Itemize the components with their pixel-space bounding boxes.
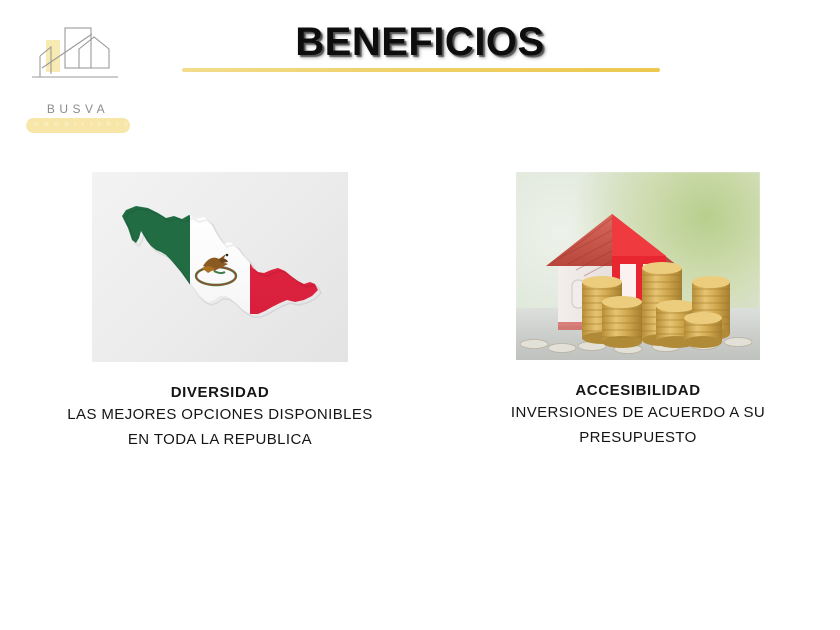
benefit-text-line1: INVERSIONES DE ACUERDO A SU bbox=[450, 402, 826, 424]
benefit-caption-diversidad: DIVERSIDAD LAS MEJORES OPCIONES DISPONIB… bbox=[14, 384, 426, 451]
title-underline-rule bbox=[182, 68, 660, 72]
logo-tagline: I N M O B I L I A R I A bbox=[26, 119, 130, 132]
benefit-caption-accesibilidad: ACCESIBILIDAD INVERSIONES DE ACUERDO A S… bbox=[450, 382, 826, 449]
benefit-column-accesibilidad: ACCESIBILIDAD INVERSIONES DE ACUERDO A S… bbox=[450, 172, 826, 449]
benefit-text-line2: PRESUPUESTO bbox=[450, 427, 826, 449]
coin-stack-2 bbox=[602, 296, 642, 348]
mexico-map-flag-photo bbox=[92, 172, 348, 362]
page-title: BENEFICIOS bbox=[0, 20, 840, 65]
mexico-map-illustration bbox=[92, 172, 348, 362]
benefit-heading: DIVERSIDAD bbox=[14, 384, 426, 401]
benefit-column-diversidad: DIVERSIDAD LAS MEJORES OPCIONES DISPONIB… bbox=[14, 172, 426, 451]
benefit-text-line2: EN TODA LA REPUBLICA bbox=[14, 429, 426, 451]
slide-beneficios: BUSVA I N M O B I L I A R I A BENEFICIOS bbox=[0, 0, 840, 630]
logo-wordmark: BUSVA bbox=[18, 102, 138, 116]
house-and-coins-illustration bbox=[516, 172, 760, 360]
benefit-heading: ACCESIBILIDAD bbox=[450, 382, 826, 399]
house-and-coins-photo bbox=[516, 172, 760, 360]
benefit-text-line1: LAS MEJORES OPCIONES DISPONIBLES bbox=[14, 404, 426, 426]
coin-stack-6 bbox=[684, 312, 722, 348]
